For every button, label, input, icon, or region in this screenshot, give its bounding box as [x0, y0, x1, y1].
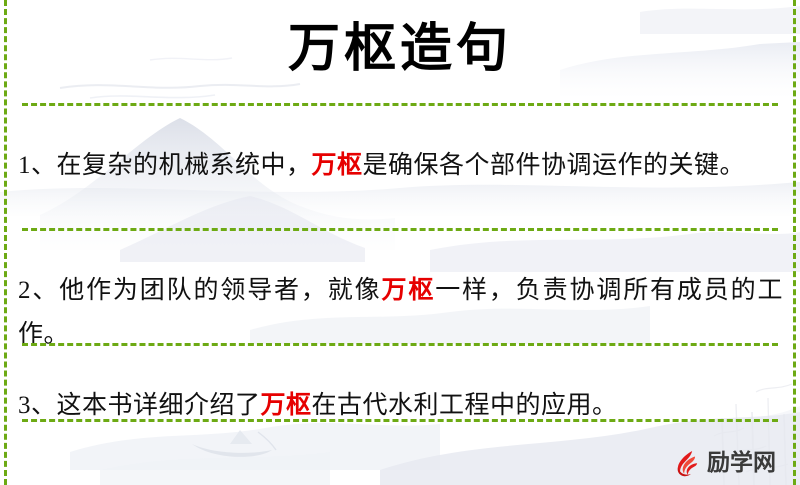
sentence-1-after: 是确保各个部件协调运作的关键。 [363, 152, 746, 179]
lixue-swirl-icon [672, 448, 702, 478]
example-sentence-1: 1、在复杂的机械系统中，万枢是确保各个部件协调运作的关键。 [18, 143, 783, 188]
site-logo[interactable]: 励学网 [672, 448, 776, 478]
frame-border-left [4, 0, 7, 485]
sentence-card-page: 万枢造句 1、在复杂的机械系统中，万枢是确保各个部件协调运作的关键。 2、他作为… [0, 0, 800, 485]
title-band: 万枢造句 [0, 0, 800, 103]
sentence-3-before: 这本书详细介绍了 [57, 392, 261, 419]
card-content: 万枢造句 1、在复杂的机械系统中，万枢是确保各个部件协调运作的关键。 2、他作为… [0, 0, 800, 485]
frame-border-right [793, 0, 796, 485]
divider-1 [22, 103, 778, 106]
sentence-2-index: 2、 [18, 277, 59, 304]
page-title: 万枢造句 [288, 23, 512, 81]
sentence-2-keyword: 万枢 [381, 275, 435, 304]
sentence-2-before: 他作为团队的领导者，就像 [59, 277, 381, 304]
divider-4 [22, 419, 778, 422]
divider-3 [22, 343, 778, 346]
sentence-1-keyword: 万枢 [312, 150, 363, 179]
sentence-3-index: 3、 [18, 392, 57, 419]
sentence-1-index: 1、 [18, 152, 57, 179]
sentence-3-keyword: 万枢 [261, 390, 312, 419]
sentence-3-after: 在古代水利工程中的应用。 [312, 392, 618, 419]
divider-2 [22, 228, 778, 231]
site-logo-text: 励学网 [707, 452, 776, 475]
sentence-1-before: 在复杂的机械系统中， [57, 152, 312, 179]
